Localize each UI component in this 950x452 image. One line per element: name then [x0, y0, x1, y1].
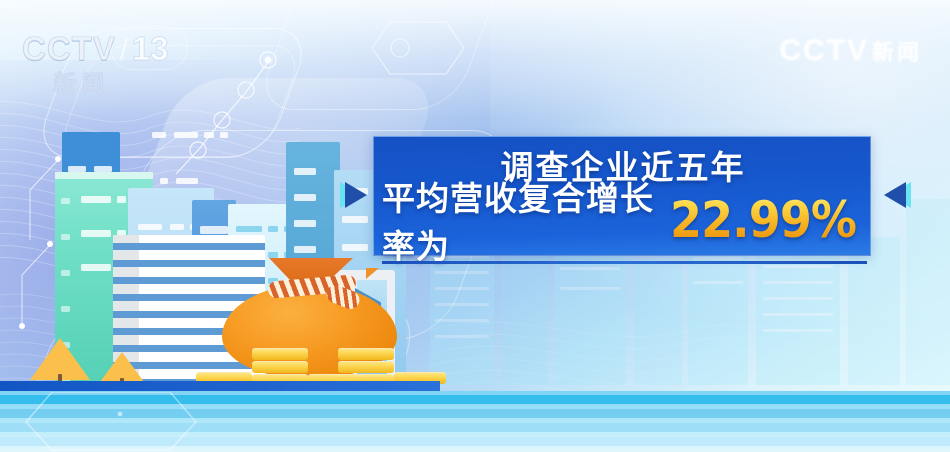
- ground-base-bar: [0, 381, 440, 391]
- watermark-subtitle: 新闻: [872, 40, 922, 65]
- ground-hexagon-outline: [20, 392, 240, 452]
- watermark-cctv-text: CCTV: [779, 34, 869, 67]
- sky-dash-6: [176, 178, 198, 184]
- sky-dash-2: [174, 132, 198, 138]
- headline-banner-underline: [382, 261, 867, 264]
- tree-large: [30, 338, 90, 384]
- growth-rate-value: 22.99%: [670, 191, 856, 249]
- right-pointing-arrow: [345, 182, 367, 208]
- left-pointing-arrow: [884, 182, 906, 208]
- headline-line-2-text: 平均营收复合增长率为: [382, 172, 668, 268]
- corner-watermark: CCTV新闻: [779, 34, 922, 68]
- logo-cctv-text: CCTV: [22, 30, 116, 67]
- orange-chevron-accent: [366, 268, 379, 279]
- channel-logo: CCTV/13 新闻: [22, 30, 172, 92]
- tree-small: [100, 352, 144, 384]
- logo-subtitle: 新闻: [54, 66, 172, 98]
- sky-dash-3: [204, 132, 214, 138]
- headline-banner: 调查企业近五年 平均营收复合增长率为 22.99%: [373, 136, 871, 256]
- sky-dash-4: [220, 132, 228, 138]
- broadcast-graphic-stage: 调查企业近五年 平均营收复合增长率为 22.99% CCTV/13 新闻 CCT…: [0, 0, 950, 452]
- logo-pill-outline: [110, 26, 188, 70]
- headline-line-2: 平均营收复合增长率为 22.99%: [374, 192, 872, 248]
- hexagon-outline-5: [254, 0, 516, 110]
- sky-dash-1: [152, 132, 166, 138]
- sky-dash-5: [160, 178, 168, 184]
